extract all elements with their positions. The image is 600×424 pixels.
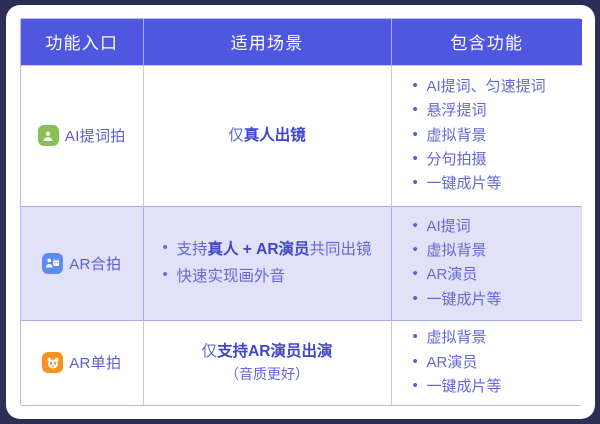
- list-item: 虚拟背景: [412, 326, 577, 350]
- scenario-text: 仅真人出镜: [150, 125, 385, 147]
- list-item: 一键成片等: [412, 288, 577, 312]
- entry-ar-solo[interactable]: AR单拍: [27, 352, 137, 373]
- cell-entry[interactable]: AI提词拍: [21, 65, 143, 207]
- scenario-prefix: 仅: [228, 127, 244, 144]
- table-row: AR单拍 仅支持AR演员出演 （音质更好） 虚拟背景: [21, 320, 582, 405]
- scenario-text: 仅支持AR演员出演 （音质更好）: [150, 341, 385, 385]
- cell-scenario: 仅真人出镜: [143, 65, 391, 207]
- cell-scenario: 支持真人 + AR演员共同出镜 快速实现画外音: [143, 207, 391, 321]
- scenario-suffix: 共同出镜: [310, 241, 372, 258]
- entry-label: AR单拍: [69, 352, 121, 373]
- entry-ar-cofilm[interactable]: AR合拍: [27, 253, 137, 274]
- feature-list: AI提词、匀速提词 悬浮提词 虚拟背景 分句拍摄 一键成片等: [398, 75, 577, 196]
- header-scenario: 适用场景: [143, 19, 391, 65]
- list-item: AI提词: [412, 215, 577, 239]
- scenario-prefix: 快速实现画外音: [176, 268, 285, 285]
- list-item: 支持真人 + AR演员共同出镜: [162, 238, 371, 261]
- list-item: 一键成片等: [412, 375, 577, 399]
- scenario-strong: 支持AR演员出演: [217, 343, 332, 360]
- scenario-prefix: 支持: [176, 241, 207, 258]
- list-item: 快速实现画外音: [162, 265, 371, 288]
- table-row: AR合拍 支持真人 + AR演员共同出镜 快速实现画外音: [21, 207, 582, 321]
- cell-scenario: 仅支持AR演员出演 （音质更好）: [143, 320, 391, 405]
- list-item: 虚拟背景: [412, 124, 577, 148]
- list-item: 一键成片等: [412, 172, 577, 196]
- cell-entry[interactable]: AR单拍: [21, 320, 143, 405]
- list-item: AI提词、匀速提词: [412, 75, 577, 99]
- scenario-list: 支持真人 + AR演员共同出镜 快速实现画外音: [150, 234, 385, 293]
- entry-label: AI提词拍: [65, 125, 126, 146]
- card-surface: 功能入口 适用场景 包含功能: [6, 5, 595, 419]
- list-item: 虚拟背景: [412, 239, 577, 263]
- table-body: AI提词拍 仅真人出镜 AI提词、匀速提词 悬浮提词: [21, 65, 582, 405]
- scenario-strong: 真人出镜: [244, 127, 306, 144]
- header-features: 包含功能: [391, 19, 582, 65]
- comparison-table-container: 功能入口 适用场景 包含功能: [20, 18, 581, 406]
- entry-ai-prompter[interactable]: AI提词拍: [27, 125, 137, 146]
- list-item: AR演员: [412, 351, 577, 375]
- person-avatar-pair-icon: [42, 253, 63, 274]
- list-item: 悬浮提词: [412, 99, 577, 123]
- entry-label: AR合拍: [69, 253, 121, 274]
- person-badge-icon: [38, 125, 59, 146]
- table-row: AI提词拍 仅真人出镜 AI提词、匀速提词 悬浮提词: [21, 65, 582, 207]
- feature-list: 虚拟背景 AR演员 一键成片等: [398, 326, 577, 399]
- cell-features: AI提词 虚拟背景 AR演员 一键成片等: [391, 207, 582, 321]
- feature-list: AI提词 虚拟背景 AR演员 一键成片等: [398, 215, 577, 312]
- cell-features: AI提词、匀速提词 悬浮提词 虚拟背景 分句拍摄 一键成片等: [391, 65, 582, 207]
- table-header-row: 功能入口 适用场景 包含功能: [21, 19, 582, 65]
- scenario-prefix: 仅: [202, 343, 218, 360]
- list-item: AR演员: [412, 263, 577, 287]
- cell-entry[interactable]: AR合拍: [21, 207, 143, 321]
- scenario-bullets: 支持真人 + AR演员共同出镜 快速实现画外音: [162, 234, 371, 293]
- table-header: 功能入口 适用场景 包含功能: [21, 19, 582, 65]
- scenario-note: （音质更好）: [150, 364, 385, 384]
- header-entry: 功能入口: [21, 19, 143, 65]
- outer-frame: 功能入口 适用场景 包含功能: [0, 0, 600, 424]
- cell-features: 虚拟背景 AR演员 一键成片等: [391, 320, 582, 405]
- scenario-strong: 真人 + AR演员: [207, 241, 309, 258]
- list-item: 分句拍摄: [412, 148, 577, 172]
- comparison-table: 功能入口 适用场景 包含功能: [21, 19, 582, 405]
- panda-face-icon: [42, 352, 63, 373]
